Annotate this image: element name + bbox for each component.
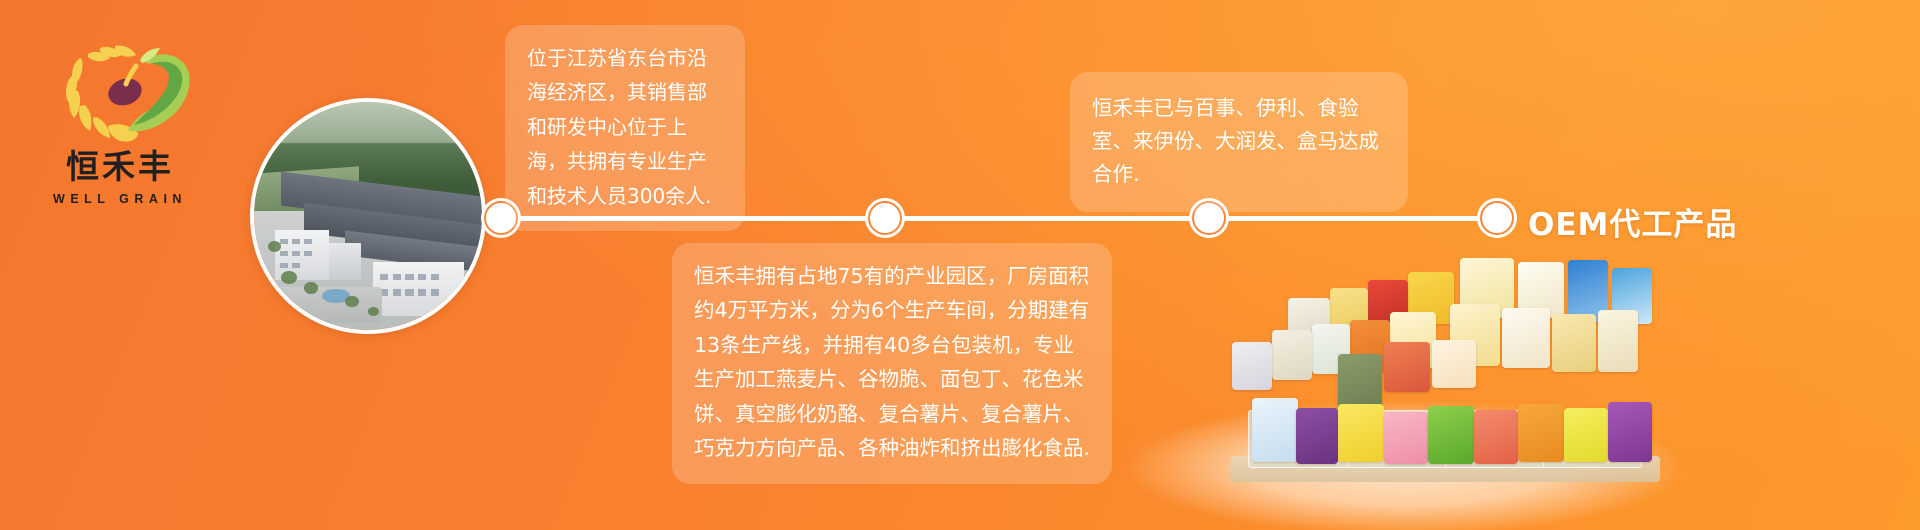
factory-photo-image (254, 102, 482, 330)
facility-card: 恒禾丰拥有占地75有的产业园区，厂房面积约4万平方米，分为6个生产车间，分期建有… (672, 243, 1112, 484)
wheat-heart-pod-logo-icon (48, 30, 198, 148)
factory-photo (250, 98, 486, 334)
partners-card: 恒禾丰已与百事、伊利、食验室、来伊份、大润发、盒马达成合作. (1070, 72, 1408, 212)
logo-name-en: WELL GRAIN (30, 192, 210, 206)
timeline-node-2[interactable] (868, 201, 902, 235)
brand-logo[interactable]: 恒禾丰 WELL GRAIN (30, 30, 210, 210)
facility-card-text: 恒禾丰拥有占地75有的产业园区，厂房面积约4万平方米，分为6个生产车间，分期建有… (694, 259, 1090, 466)
logo-name-cn: 恒禾丰 (30, 150, 210, 183)
snack-products-pile (1160, 258, 1660, 468)
location-card: 位于江苏省东台市沿海经济区，其销售部和研发中心位于上海，共拥有专业生产和技术人员… (505, 25, 745, 231)
partners-card-text: 恒禾丰已与百事、伊利、食验室、来伊份、大润发、盒马达成合作. (1092, 92, 1386, 192)
products-showcase (1100, 230, 1700, 530)
location-card-text: 位于江苏省东台市沿海经济区，其销售部和研发中心位于上海，共拥有专业生产和技术人员… (527, 41, 723, 213)
banner-canvas: 恒禾丰 WELL GRAIN (0, 0, 1920, 530)
